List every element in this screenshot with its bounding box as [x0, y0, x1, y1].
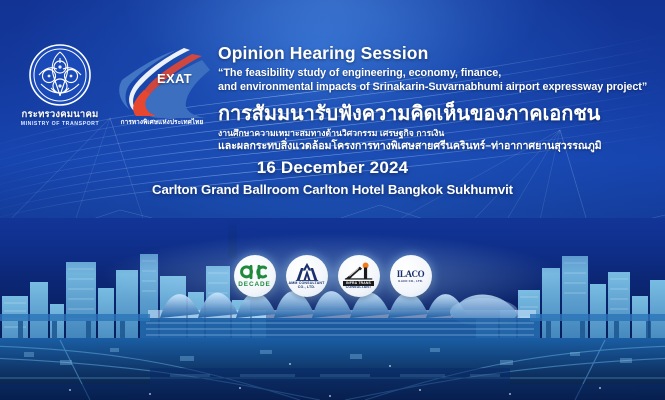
ministry-english-label: MINISTRY OF TRANSPORT	[18, 121, 102, 127]
partner-badge-amm-caption: AMM CONSULTANT CO., LTD.	[286, 282, 328, 290]
partner-badge-amm[interactable]: AMM CONSULTANT CO., LTD.	[286, 255, 328, 297]
partner-badge-infra-trans[interactable]: INFRA TRANS CONSULTANT	[338, 255, 380, 297]
ministry-thai-label: กระทรวงคมนาคม	[18, 110, 102, 120]
english-subtitle-line1: “The feasibility study of engineering, e…	[218, 66, 653, 80]
event-banner: กระทรวงคมนาคม MINISTRY OF TRANSPORT EXAT…	[0, 0, 665, 400]
event-info: 16 December 2024 Carlton Grand Ballroom …	[0, 158, 665, 197]
thai-subtitle-line1: งานศึกษาความเหมาะสมทางด้านวิศวกรรม เศรษฐ…	[218, 127, 653, 139]
partner-badge-decade-label: DECADE	[238, 281, 270, 288]
suvarnabhumi-airport-cityscape	[0, 218, 665, 400]
amm-mark-icon	[294, 262, 320, 281]
partner-badge-ilaco-label: ILACO	[397, 269, 425, 279]
headline-block: Opinion Hearing Session “The feasibility…	[218, 44, 653, 153]
decade-mark-icon	[240, 264, 270, 280]
thai-subtitle-line2: และผลกระทบสิ่งแวดล้อมโครงการทางพิเศษสายศ…	[218, 140, 653, 154]
partner-logo-row: DECADE AMM CONSULTANT CO., LTD.	[0, 255, 665, 297]
exat-acronym: EXAT	[157, 71, 192, 86]
ministry-of-transport-logo: กระทรวงคมนาคม MINISTRY OF TRANSPORT	[18, 44, 102, 127]
partner-badge-ilaco[interactable]: ILACO ILACO CO., LTD.	[390, 255, 432, 297]
thai-title: การสัมมนารับฟังความคิดเห็นของภาคเอกชน	[218, 103, 653, 126]
exat-logo: EXAT การทางพิเศษแห่งประเทศไทย	[110, 44, 214, 127]
event-venue: Carlton Grand Ballroom Carlton Hotel Ban…	[0, 182, 665, 197]
partner-badge-ilaco-caption: ILACO CO., LTD.	[398, 279, 423, 283]
partner-badge-decade[interactable]: DECADE	[234, 255, 276, 297]
ministry-seal-icon	[29, 44, 91, 106]
logo-group: กระทรวงคมนาคม MINISTRY OF TRANSPORT EXAT…	[18, 44, 214, 127]
event-date: 16 December 2024	[0, 158, 665, 178]
infra-trans-mark-icon	[344, 262, 374, 280]
english-subtitle-line2: and environmental impacts of Srinakarin-…	[218, 80, 653, 94]
partner-badge-infra-trans-caption: CONSULTANT	[346, 286, 372, 290]
english-title: Opinion Hearing Session	[218, 44, 653, 64]
